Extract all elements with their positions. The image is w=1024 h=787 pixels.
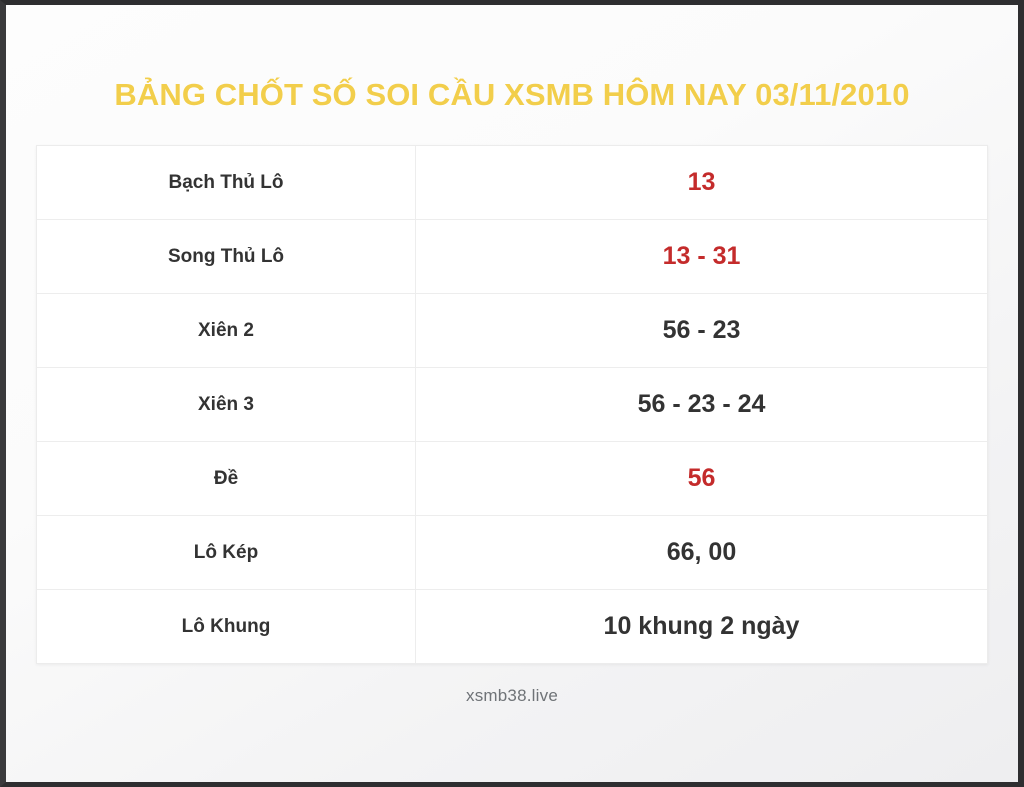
row-label: Lô Kép	[37, 516, 416, 589]
table-row: Song Thủ Lô 13 - 31	[37, 220, 987, 294]
row-value: 13	[416, 146, 987, 219]
page-title: BẢNG CHỐT SỐ SOI CẦU XSMB HÔM NAY 03/11/…	[114, 77, 909, 113]
row-label: Xiên 2	[37, 294, 416, 367]
row-value: 56	[416, 442, 987, 515]
row-label: Xiên 3	[37, 368, 416, 441]
row-value: 66, 00	[416, 516, 987, 589]
table-row: Bạch Thủ Lô 13	[37, 146, 987, 220]
row-value: 56 - 23 - 24	[416, 368, 987, 441]
row-value: 10 khung 2 ngày	[416, 590, 987, 663]
row-label: Lô Khung	[37, 590, 416, 663]
row-value: 13 - 31	[416, 220, 987, 293]
table-row: Đề 56	[37, 442, 987, 516]
table-row: Xiên 3 56 - 23 - 24	[37, 368, 987, 442]
row-value: 56 - 23	[416, 294, 987, 367]
prediction-table: Bạch Thủ Lô 13 Song Thủ Lô 13 - 31 Xiên …	[36, 145, 988, 664]
table-row: Xiên 2 56 - 23	[37, 294, 987, 368]
table-row: Lô Khung 10 khung 2 ngày	[37, 590, 987, 663]
row-label: Bạch Thủ Lô	[37, 146, 416, 219]
table-row: Lô Kép 66, 00	[37, 516, 987, 590]
screen-frame: BẢNG CHỐT SỐ SOI CẦU XSMB HÔM NAY 03/11/…	[0, 0, 1024, 787]
row-label: Đề	[37, 442, 416, 515]
site-watermark: xsmb38.live	[466, 686, 558, 706]
row-label: Song Thủ Lô	[37, 220, 416, 293]
